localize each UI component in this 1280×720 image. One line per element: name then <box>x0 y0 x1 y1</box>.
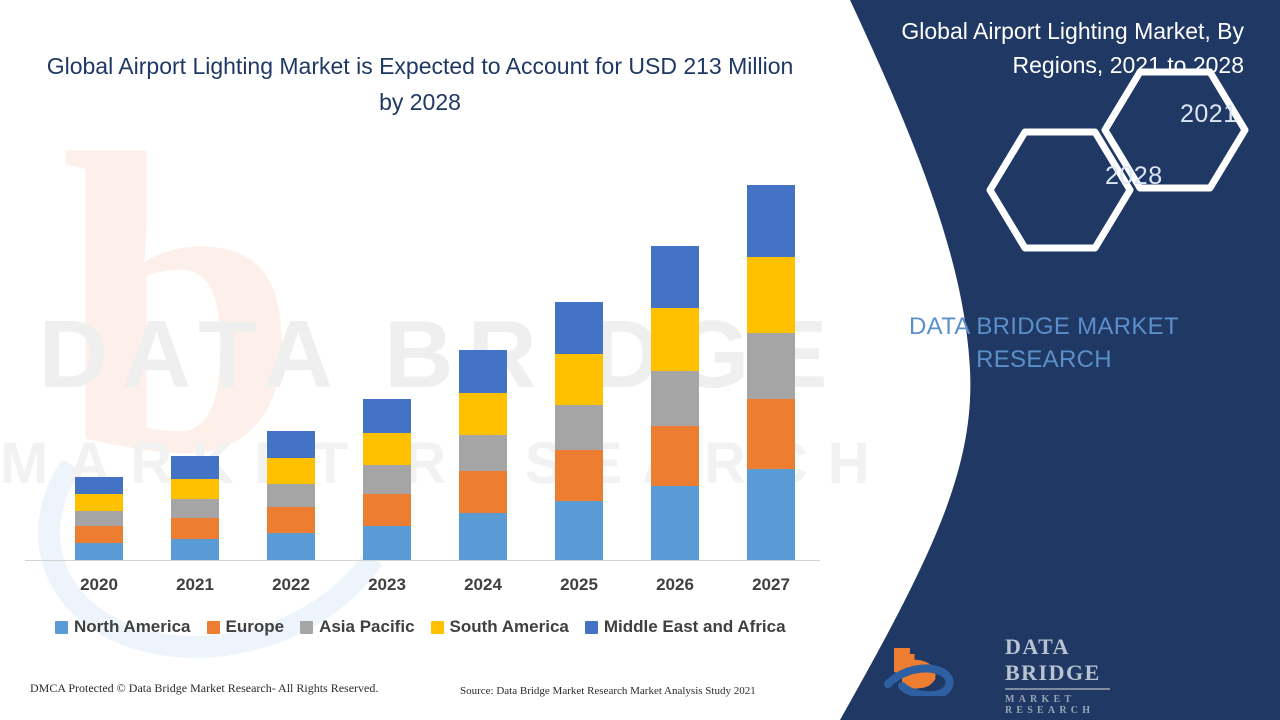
bar-segment <box>651 308 699 371</box>
bar-segment <box>75 494 123 511</box>
x-axis-label-2021: 2021 <box>147 575 243 595</box>
legend-label: North America <box>74 617 191 637</box>
hexagon-group: 2028 2021 <box>810 0 1280 300</box>
bar-segment <box>171 518 219 539</box>
footer-source: Source: Data Bridge Market Research Mark… <box>460 685 756 697</box>
bar-segment <box>459 471 507 513</box>
bar-segment <box>555 501 603 560</box>
bar-segment <box>267 533 315 560</box>
x-axis-label-2020: 2020 <box>51 575 147 595</box>
bar-segment <box>267 484 315 507</box>
bar-segment <box>747 185 795 257</box>
legend-swatch-icon <box>431 621 444 634</box>
legend-item[interactable]: North America <box>55 617 191 637</box>
stacked-bar-chart: 20202021202220232024202520262027 <box>0 0 860 720</box>
legend-swatch-icon <box>585 621 598 634</box>
legend-label: Middle East and Africa <box>604 617 786 637</box>
bar-segment <box>747 333 795 399</box>
bar-2026 <box>651 246 699 560</box>
logo-text-block: DATA BRIDGE MARKET RESEARCH <box>1005 634 1110 716</box>
hexagon-outlines-icon <box>810 0 1280 300</box>
legend-item[interactable]: Middle East and Africa <box>585 617 786 637</box>
bar-2025 <box>555 302 603 560</box>
bar-segment <box>267 458 315 485</box>
chart-legend: North AmericaEuropeAsia PacificSouth Ame… <box>55 617 835 637</box>
bar-segment <box>651 426 699 487</box>
logo-main-text: DATA BRIDGE <box>1005 634 1110 690</box>
bar-segment <box>75 543 123 560</box>
bar-segment <box>171 539 219 560</box>
legend-label: South America <box>450 617 569 637</box>
x-axis-label-2022: 2022 <box>243 575 339 595</box>
infographic-canvas: b DATA BRIDGE MARKET RESEARCH Global Air… <box>0 0 1280 720</box>
bar-segment <box>363 526 411 560</box>
bar-2027 <box>747 185 795 560</box>
footer: DMCA Protected © Data Bridge Market Rese… <box>0 681 845 709</box>
bar-segment <box>75 477 123 494</box>
bar-segment <box>363 494 411 526</box>
bar-segment <box>171 499 219 518</box>
bar-segment <box>651 246 699 309</box>
bar-segment <box>171 456 219 479</box>
legend-item[interactable]: South America <box>431 617 569 637</box>
legend-swatch-icon <box>207 621 220 634</box>
bar-segment <box>459 350 507 394</box>
bar-2023 <box>363 399 411 560</box>
bar-segment <box>363 465 411 493</box>
bar-segment <box>747 399 795 469</box>
bar-segment <box>651 486 699 560</box>
panel-brand-line-2: RESEARCH <box>844 343 1244 376</box>
logo-sub-text: MARKET RESEARCH <box>1005 694 1110 716</box>
bar-segment <box>75 526 123 543</box>
bar-segment <box>651 371 699 426</box>
bar-segment <box>459 513 507 560</box>
hexagon-year-2021: 2021 <box>1180 100 1238 129</box>
x-axis-label-2027: 2027 <box>723 575 819 595</box>
bar-2022 <box>267 431 315 560</box>
x-axis-label-2025: 2025 <box>531 575 627 595</box>
footer-copyright: DMCA Protected © Data Bridge Market Rese… <box>30 681 378 696</box>
legend-item[interactable]: Europe <box>207 617 285 637</box>
right-panel: Global Airport Lighting Market, By Regio… <box>810 0 1280 720</box>
bar-2020 <box>75 477 123 560</box>
bar-segment <box>747 257 795 333</box>
bar-segment <box>363 433 411 465</box>
bar-segment <box>459 393 507 435</box>
legend-label: Europe <box>226 617 285 637</box>
data-bridge-mark-icon <box>880 628 1000 696</box>
legend-swatch-icon <box>300 621 313 634</box>
bar-segment <box>555 302 603 353</box>
bar-segment <box>267 507 315 534</box>
company-logo: DATA BRIDGE MARKET RESEARCH <box>880 628 1110 698</box>
bar-segment <box>171 479 219 500</box>
panel-brand: DATA BRIDGE MARKET RESEARCH <box>844 310 1244 376</box>
bar-segment <box>747 469 795 560</box>
x-axis-label-2023: 2023 <box>339 575 435 595</box>
bar-segment <box>267 431 315 458</box>
hexagon-year-2028: 2028 <box>1105 162 1163 191</box>
bar-segment <box>555 450 603 501</box>
x-axis-label-2026: 2026 <box>627 575 723 595</box>
bar-segment <box>75 511 123 526</box>
bar-segment <box>459 435 507 471</box>
legend-label: Asia Pacific <box>319 617 414 637</box>
legend-item[interactable]: Asia Pacific <box>300 617 414 637</box>
bar-segment <box>555 405 603 450</box>
bar-2024 <box>459 350 507 560</box>
bar-2021 <box>171 456 219 560</box>
legend-swatch-icon <box>55 621 68 634</box>
panel-brand-line-1: DATA BRIDGE MARKET <box>844 310 1244 343</box>
bar-segment <box>363 399 411 433</box>
bar-segment <box>555 354 603 405</box>
x-axis-label-2024: 2024 <box>435 575 531 595</box>
